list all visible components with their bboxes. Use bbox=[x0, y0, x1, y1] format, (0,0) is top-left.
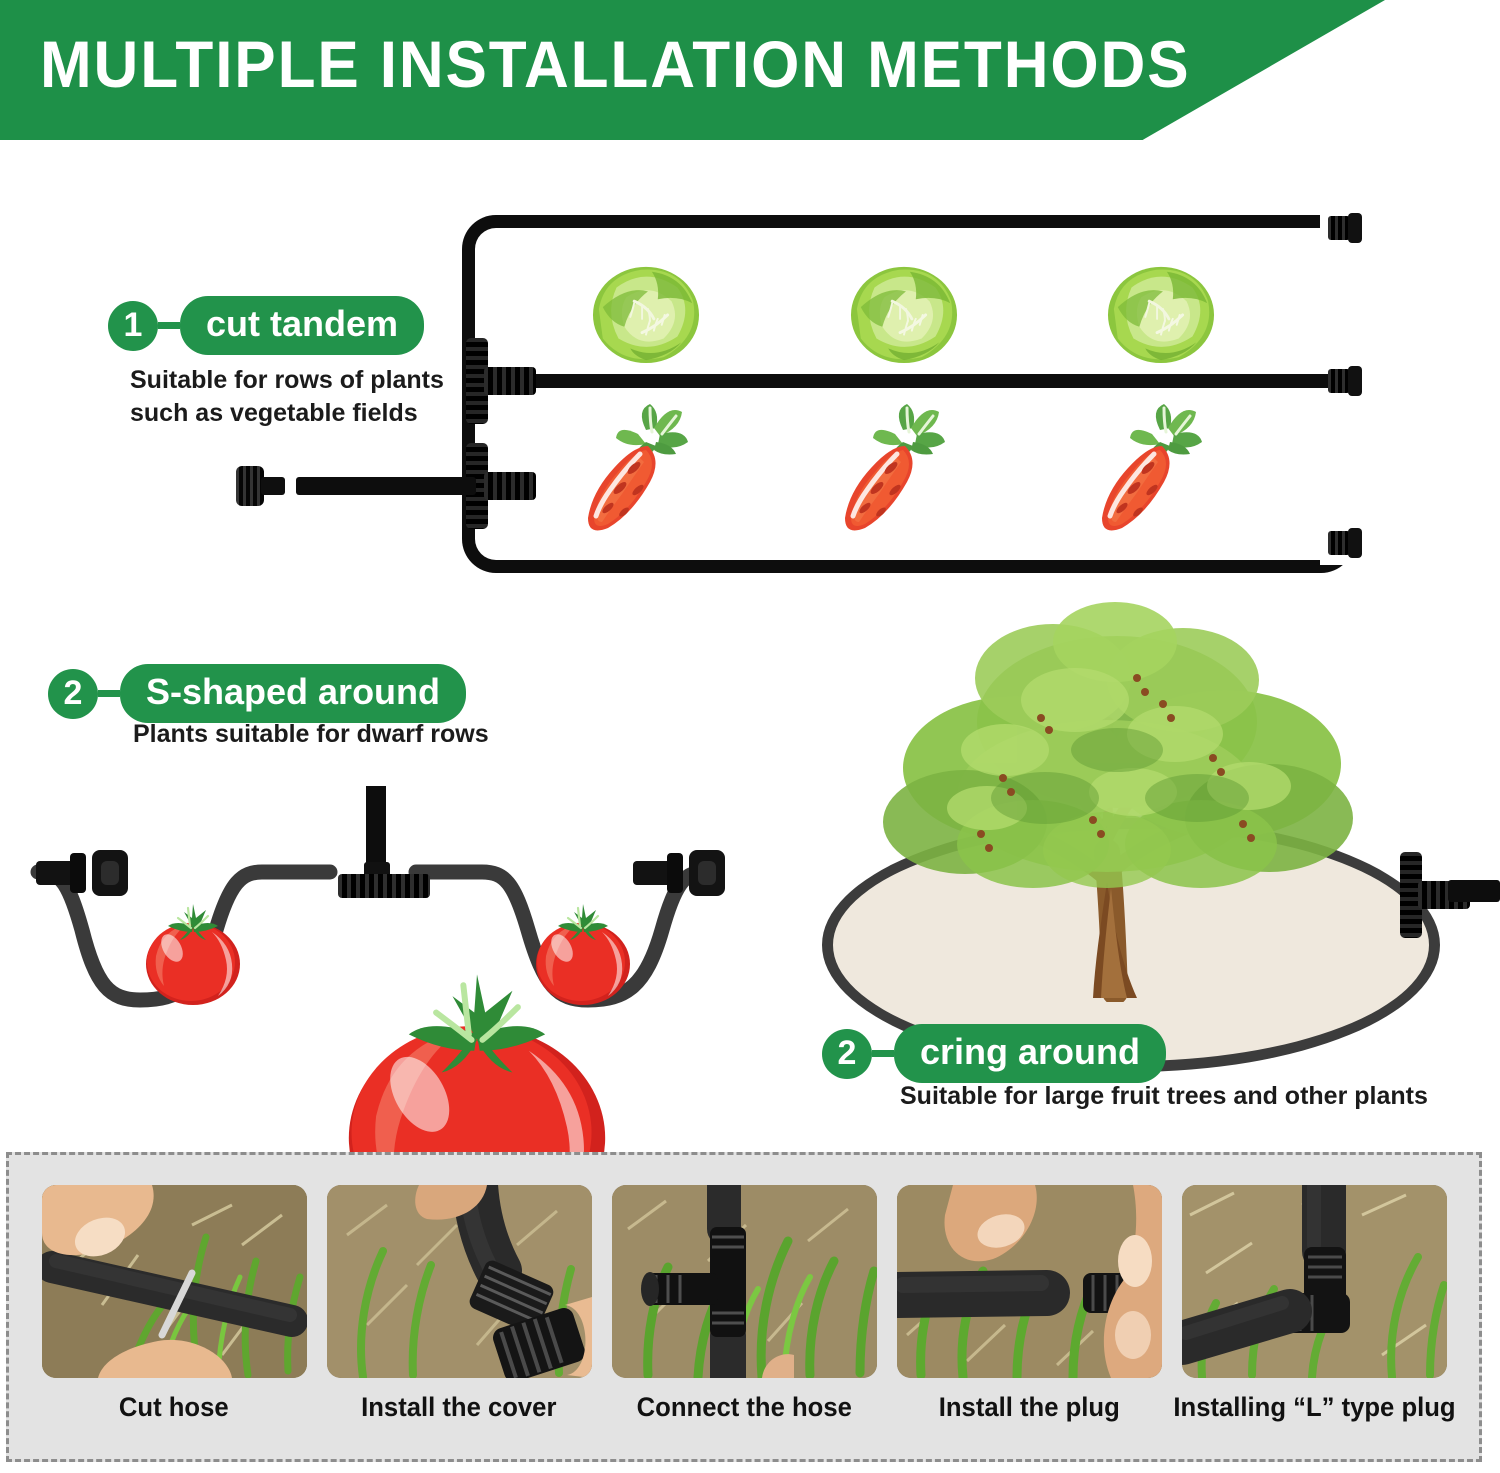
method-2-caption: Plants suitable for dwarf rows bbox=[133, 718, 489, 751]
infographic-page: MULTIPLE INSTALLATION METHODS 1 cut tand… bbox=[0, 0, 1500, 1473]
step-photo-cut-hose bbox=[42, 1185, 307, 1378]
cabbage-plant bbox=[1100, 258, 1222, 366]
end-plug-row-1 bbox=[1328, 213, 1362, 243]
step-item: Cut hose bbox=[40, 1185, 308, 1423]
method-2-title: S-shaped around bbox=[120, 664, 466, 723]
s-end-plug-right bbox=[633, 850, 725, 896]
method-2-connector-dash bbox=[98, 690, 120, 697]
inlet-hose bbox=[296, 477, 476, 495]
fruit-tree bbox=[845, 582, 1390, 1002]
carrot-plant bbox=[1090, 398, 1218, 538]
method-3-number: 2 bbox=[822, 1029, 872, 1079]
cabbage-plant bbox=[585, 258, 707, 366]
step-item: Installing “L” type plug bbox=[1180, 1185, 1448, 1423]
tree-supply-hose bbox=[1448, 880, 1500, 902]
installation-steps-panel: Cut hose bbox=[6, 1152, 1482, 1462]
tee-connector-tree-ring bbox=[1400, 852, 1430, 938]
step-caption: Install the plug bbox=[938, 1392, 1119, 1423]
step-photo-install-cover bbox=[327, 1185, 592, 1378]
tomato-plant bbox=[138, 898, 248, 1010]
s-vertical-feeder-hose bbox=[366, 786, 386, 870]
carrot-plant bbox=[833, 398, 961, 538]
step-caption: Connect the hose bbox=[636, 1392, 851, 1423]
method-1-number: 1 bbox=[108, 301, 158, 351]
step-photo-connect-hose bbox=[612, 1185, 877, 1378]
step-photo-install-l-plug bbox=[1182, 1185, 1447, 1378]
method-3-caption: Suitable for large fruit trees and other… bbox=[900, 1080, 1428, 1113]
step-item: Connect the hose bbox=[610, 1185, 878, 1423]
step-item: Install the cover bbox=[325, 1185, 593, 1423]
page-title: MULTIPLE INSTALLATION METHODS bbox=[40, 22, 1190, 106]
method-3-title: cring around bbox=[894, 1024, 1166, 1083]
middle-hose-line bbox=[500, 374, 1330, 388]
method-3-label: 2 cring around bbox=[822, 1024, 1166, 1083]
method-2-label: 2 S-shaped around bbox=[48, 664, 466, 723]
step-caption: Cut hose bbox=[119, 1392, 229, 1423]
cabbage-plant bbox=[843, 258, 965, 366]
tee-connector-s-center bbox=[338, 862, 430, 898]
tee-connector-middle bbox=[466, 338, 496, 424]
end-plug-row-3 bbox=[1328, 528, 1362, 558]
method-1-label: 1 cut tandem bbox=[108, 296, 424, 355]
s-end-plug-left bbox=[36, 850, 128, 896]
faucet-adapter bbox=[236, 466, 284, 506]
end-plug-row-2 bbox=[1328, 366, 1362, 396]
step-caption: Install the cover bbox=[361, 1392, 556, 1423]
step-photo-install-plug bbox=[897, 1185, 1162, 1378]
step-item: Install the plug bbox=[895, 1185, 1163, 1423]
method-1-connector-dash bbox=[158, 322, 180, 329]
method-3-connector-dash bbox=[872, 1050, 894, 1057]
installation-steps-row: Cut hose bbox=[9, 1155, 1479, 1459]
method-1-caption: Suitable for rows of plants such as vege… bbox=[130, 364, 444, 430]
carrot-plant bbox=[576, 398, 704, 538]
tomato-plant bbox=[528, 898, 638, 1010]
step-caption: Installing “L” type plug bbox=[1173, 1392, 1455, 1423]
method-1-title: cut tandem bbox=[180, 296, 424, 355]
method-2-number: 2 bbox=[48, 669, 98, 719]
